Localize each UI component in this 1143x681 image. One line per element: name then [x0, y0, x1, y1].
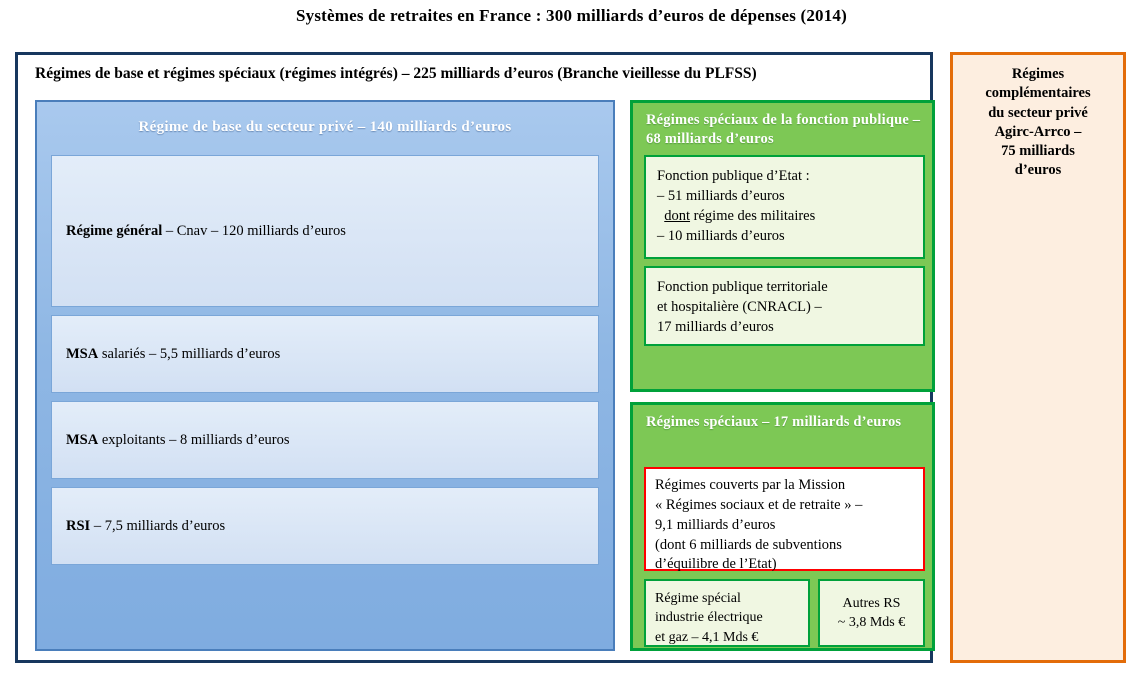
- regime-special-ieg-box: Régime spécial industrie électrique et g…: [644, 579, 810, 647]
- fpe-dont-keyword: dont: [664, 208, 690, 224]
- mission-line-3: 9,1 milliards d’euros: [655, 516, 923, 536]
- mission-line-5: d’équilibre de l’Etat): [655, 555, 923, 575]
- complementaires-line-5: 75 milliards: [959, 142, 1117, 161]
- regime-general-text: Régime général – Cnav – 120 milliards d’…: [52, 222, 346, 240]
- msa-salaries-text: MSA salariés – 5,5 milliards d’euros: [52, 345, 280, 363]
- fonction-publique-header: Régimes spéciaux de la fonction publique…: [646, 111, 926, 149]
- regime-general-amount: – Cnav – 120 milliards d’euros: [162, 223, 346, 239]
- msa-salaries-box: MSA salariés – 5,5 milliards d’euros: [51, 315, 599, 393]
- msa-salaries-amount: salariés – 5,5 milliards d’euros: [98, 346, 280, 362]
- base-panel-header: Régimes de base et régimes spéciaux (rég…: [35, 65, 915, 83]
- mission-line-2: « Régimes sociaux et de retraite » –: [655, 496, 923, 516]
- regime-general-box: Régime général – Cnav – 120 milliards d’…: [51, 155, 599, 307]
- fpe-line-3: dont régime des militaires: [657, 206, 923, 226]
- cnracl-line-1: Fonction publique territoriale: [657, 277, 923, 297]
- autres-rs-line-2: ~ 3,8 Mds €: [838, 613, 905, 632]
- rsi-box: RSI – 7,5 milliards d’euros: [51, 487, 599, 565]
- msa-exploitants-box: MSA exploitants – 8 milliards d’euros: [51, 401, 599, 479]
- fpe-line-1: Fonction publique d’Etat :: [657, 166, 923, 186]
- fpe-line-4: – 10 milliards d’euros: [657, 226, 923, 246]
- msa-exploitants-amount: exploitants – 8 milliards d’euros: [98, 432, 289, 448]
- cnracl-line-3: 17 milliards d’euros: [657, 317, 923, 337]
- page-title: Systèmes de retraites en France : 300 mi…: [0, 6, 1143, 26]
- base-and-special-regimes-panel: Régimes de base et régimes spéciaux (rég…: [15, 52, 933, 663]
- fpe-line-2: – 51 milliards d’euros: [657, 186, 923, 206]
- complementaires-line-4: Agirc-Arrco –: [959, 123, 1117, 142]
- complementaires-line-2: complémentaires: [959, 84, 1117, 103]
- complementaires-line-1: Régimes: [959, 65, 1117, 84]
- rsi-amount: – 7,5 milliards d’euros: [90, 518, 225, 534]
- msa-salaries-label: MSA: [66, 346, 98, 362]
- ieg-line-2: industrie électrique: [655, 608, 808, 627]
- fonction-publique-etat-box: Fonction publique d’Etat : – 51 milliard…: [644, 155, 925, 259]
- regimes-speciaux-panel: Régimes spéciaux – 17 milliards d’euros …: [630, 402, 935, 651]
- mission-line-4: (dont 6 milliards de subventions: [655, 536, 923, 556]
- ieg-line-1: Régime spécial: [655, 589, 808, 608]
- regimes-complementaires-panel: Régimes complémentaires du secteur privé…: [950, 52, 1126, 663]
- autres-rs-box: Autres RS ~ 3,8 Mds €: [818, 579, 925, 647]
- msa-exploitants-label: MSA: [66, 432, 98, 448]
- complementaires-line-3: du secteur privé: [959, 104, 1117, 123]
- private-sector-base-header: Régime de base du secteur privé – 140 mi…: [37, 119, 613, 136]
- cnracl-line-2: et hospitalière (CNRACL) –: [657, 297, 923, 317]
- complementaires-line-6: d’euros: [959, 161, 1117, 180]
- mission-regimes-sociaux-box: Régimes couverts par la Mission « Régime…: [644, 467, 925, 571]
- rsi-label: RSI: [66, 518, 90, 534]
- regimes-complementaires-text: Régimes complémentaires du secteur privé…: [959, 65, 1117, 181]
- regime-general-label: Régime général: [66, 223, 162, 239]
- regimes-speciaux-header: Régimes spéciaux – 17 milliards d’euros: [646, 413, 926, 432]
- fpe-line-3-rest: régime des militaires: [690, 208, 815, 224]
- ieg-line-3: et gaz – 4,1 Mds €: [655, 628, 808, 647]
- mission-line-1: Régimes couverts par la Mission: [655, 476, 923, 496]
- cnracl-box: Fonction publique territoriale et hospit…: [644, 266, 925, 346]
- autres-rs-line-1: Autres RS: [843, 594, 901, 613]
- msa-exploitants-text: MSA exploitants – 8 milliards d’euros: [52, 431, 290, 449]
- private-sector-base-panel: Régime de base du secteur privé – 140 mi…: [35, 100, 615, 651]
- fonction-publique-panel: Régimes spéciaux de la fonction publique…: [630, 100, 935, 392]
- rsi-text: RSI – 7,5 milliards d’euros: [52, 517, 225, 535]
